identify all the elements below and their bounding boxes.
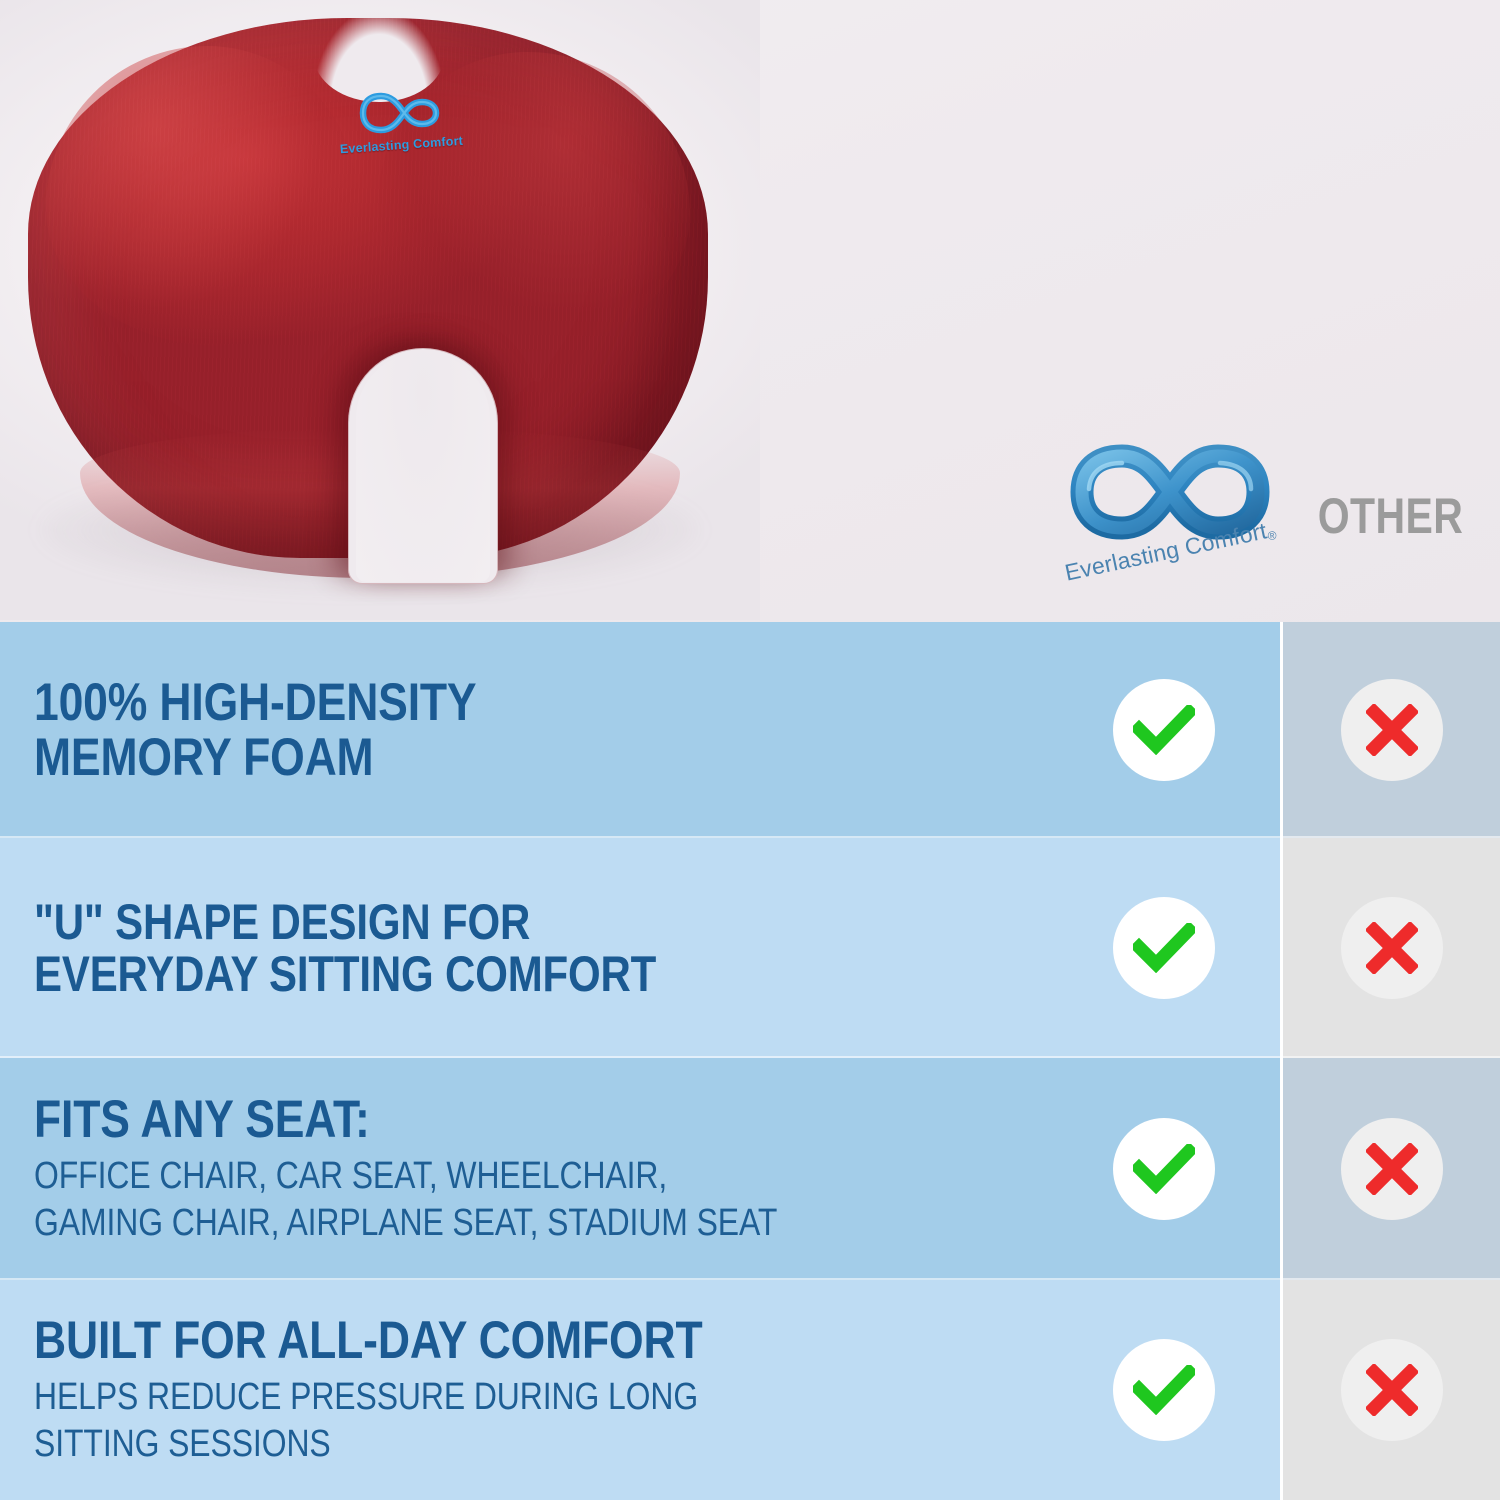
- feature-subtitle-line1: OFFICE CHAIR, CAR SEAT, WHEELCHAIR,: [34, 1153, 886, 1199]
- feature-subtitle: OFFICE CHAIR, CAR SEAT, WHEELCHAIR, GAMI…: [34, 1153, 886, 1246]
- feature-cell: 100% HIGH-DENSITY MEMORY FOAM: [0, 622, 1048, 838]
- feature-subtitle-line2: SITTING SESSIONS: [34, 1421, 886, 1467]
- header-area: Everlasting Comfort: [0, 0, 1500, 622]
- feature-cell: "U" SHAPE DESIGN FOR EVERYDAY SITTING CO…: [0, 838, 1048, 1058]
- feature-subtitle: HELPS REDUCE PRESSURE DURING LONG SITTIN…: [34, 1374, 886, 1467]
- check-icon: [1113, 1118, 1215, 1220]
- cross-icon: [1341, 1118, 1443, 1220]
- feature-title-line2: MEMORY FOAM: [34, 730, 886, 785]
- feature-cell: BUILT FOR ALL-DAY COMFORT HELPS REDUCE P…: [0, 1280, 1048, 1500]
- feature-title-line1: 100% HIGH-DENSITY: [34, 675, 886, 730]
- infinity-icon: [334, 90, 469, 136]
- brand-logo: Everlasting Comfort®: [1062, 442, 1278, 592]
- other-column-label: OTHER: [1301, 487, 1481, 545]
- brand-status-cell: [1048, 1058, 1280, 1280]
- comparison-infographic: Everlasting Comfort: [0, 0, 1500, 1500]
- brand-status-cell: [1048, 838, 1280, 1058]
- brand-status-cell: [1048, 622, 1280, 838]
- seat-cushion-image: Everlasting Comfort: [28, 18, 708, 558]
- feature-title-line1: FITS ANY SEAT:: [34, 1092, 886, 1147]
- check-icon: [1113, 679, 1215, 781]
- other-status-cell: [1280, 838, 1500, 1058]
- brand-status-cell: [1048, 1280, 1280, 1500]
- table-row: FITS ANY SEAT: OFFICE CHAIR, CAR SEAT, W…: [0, 1058, 1500, 1280]
- cross-icon: [1341, 679, 1443, 781]
- product-photo: Everlasting Comfort: [0, 0, 760, 620]
- cushion-center-notch: [314, 10, 444, 102]
- table-row: 100% HIGH-DENSITY MEMORY FOAM: [0, 622, 1500, 838]
- brand-wordmark-container: Everlasting Comfort®: [1062, 538, 1278, 572]
- feature-title-line2: EVERYDAY SITTING COMFORT: [34, 948, 886, 1000]
- check-icon: [1113, 897, 1215, 999]
- other-status-cell: [1280, 1058, 1500, 1280]
- check-icon: [1113, 1339, 1215, 1441]
- feature-title-line1: BUILT FOR ALL-DAY COMFORT: [34, 1313, 886, 1368]
- cushion-u-cutout-inner: [356, 352, 490, 582]
- feature-title-line1: "U" SHAPE DESIGN FOR: [34, 896, 886, 948]
- feature-subtitle-line2: GAMING CHAIR, AIRPLANE SEAT, STADIUM SEA…: [34, 1200, 886, 1246]
- other-status-cell: [1280, 1280, 1500, 1500]
- table-row: BUILT FOR ALL-DAY COMFORT HELPS REDUCE P…: [0, 1280, 1500, 1500]
- cross-icon: [1341, 1339, 1443, 1441]
- cushion-logo-text: Everlasting Comfort: [334, 133, 470, 156]
- feature-cell: FITS ANY SEAT: OFFICE CHAIR, CAR SEAT, W…: [0, 1058, 1048, 1280]
- cushion-embroidered-logo: Everlasting Comfort: [334, 90, 469, 190]
- table-row: "U" SHAPE DESIGN FOR EVERYDAY SITTING CO…: [0, 838, 1500, 1058]
- cushion-left-lobe: [46, 46, 356, 346]
- cross-icon: [1341, 897, 1443, 999]
- comparison-table: 100% HIGH-DENSITY MEMORY FOAM: [0, 622, 1500, 1500]
- feature-subtitle-line1: HELPS REDUCE PRESSURE DURING LONG: [34, 1374, 886, 1420]
- other-status-cell: [1280, 622, 1500, 838]
